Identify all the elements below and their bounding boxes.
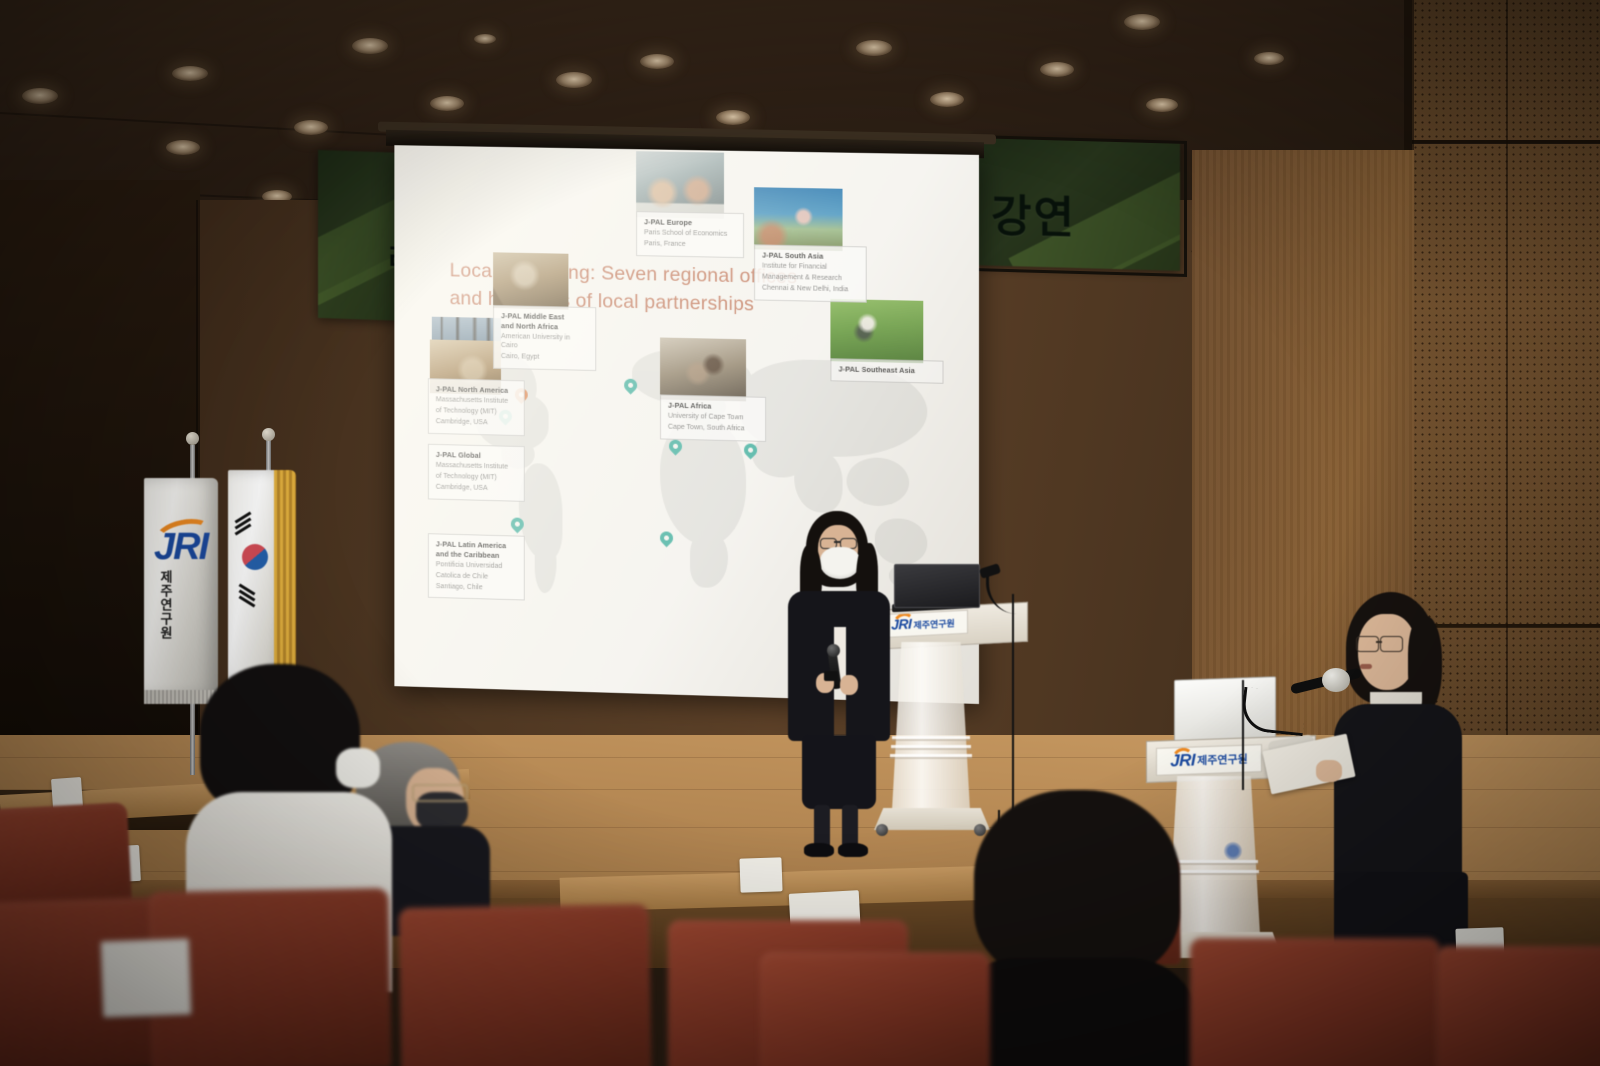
- flag-jri-korean: 제주연구원: [156, 570, 175, 640]
- map-pin-mena: [669, 440, 682, 457]
- office-institution-2: of Technology (MIT): [436, 472, 517, 484]
- office-city: Cairo, Egypt: [501, 352, 588, 363]
- ceiling-downlight: [856, 40, 892, 56]
- lectern-column: [892, 642, 970, 810]
- office-card-mena: J-PAL Middle East and North Africa Ameri…: [493, 305, 596, 371]
- microphone-head: [827, 644, 840, 657]
- side-lectern-emblem: [1224, 842, 1242, 860]
- ceiling-downlight: [640, 54, 674, 69]
- ceiling-downlight: [22, 88, 58, 104]
- office-card-southeast-asia: J-PAL Southeast Asia: [830, 358, 943, 383]
- moderator-glasses-bridge: [1376, 641, 1382, 643]
- auditorium-photo: 리 강연 Local grounding: Seven regional off…: [0, 0, 1600, 1066]
- flag-finial-left: [186, 432, 199, 445]
- office-photo-mena: [493, 252, 568, 309]
- office-card-latin-america: J-PAL Latin America and the Caribbean Po…: [428, 533, 525, 601]
- office-name: J-PAL Africa: [668, 401, 758, 413]
- jri-logo-korean: 제주연구원: [1197, 751, 1248, 769]
- ceiling-downlight: [1124, 14, 1160, 30]
- office-photo-south-asia: [754, 187, 842, 251]
- jri-logo-korean: 제주연구원: [913, 616, 954, 631]
- office-photo-africa: [660, 337, 746, 401]
- ceiling-downlight: [716, 110, 750, 125]
- office-city: Paris, France: [644, 239, 736, 250]
- ceiling-downlight: [930, 92, 964, 107]
- map-pin-europe-shadow: [628, 377, 641, 394]
- presenter-glasses-bridge: [834, 541, 841, 543]
- seat-name-card: [101, 938, 192, 1017]
- moderator-microphone-head: [1322, 668, 1350, 692]
- audience-seat-front: [760, 952, 990, 1066]
- moderator-glasses-right: [1380, 636, 1403, 652]
- presenter-face-mask: [820, 547, 860, 579]
- ceiling-downlight: [556, 72, 592, 88]
- office-institution: Massachusetts Institute: [436, 461, 517, 472]
- moderator-hand: [1316, 760, 1342, 782]
- office-name: J-PAL Southeast Asia: [838, 364, 935, 376]
- office-card-africa: J-PAL Africa University of Cape Town Cap…: [660, 394, 766, 441]
- office-name: J-PAL Europe: [644, 217, 736, 228]
- audience-seat-front: [1190, 938, 1440, 1066]
- jri-logo: JRI: [1170, 750, 1195, 771]
- presenter-shoe-right: [838, 843, 868, 857]
- office-institution: University of Cape Town: [668, 412, 758, 424]
- office-city: Cambridge, USA: [436, 417, 517, 428]
- ceiling-downlight: [166, 140, 200, 155]
- lectern-laptop-lid: [894, 564, 980, 608]
- office-institution-2: Management & Research: [762, 273, 859, 284]
- flag-gold-fringe: [274, 470, 296, 682]
- office-card-europe: J-PAL Europe Paris School of Economics P…: [636, 211, 744, 258]
- office-card-global: J-PAL Global Massachusetts Institute of …: [428, 444, 525, 502]
- presenter-shoe-left: [804, 843, 834, 857]
- office-institution: Paris School of Economics: [644, 228, 736, 239]
- ceiling-downlight: [294, 120, 328, 135]
- office-card-north-america: J-PAL North America Massachusetts Instit…: [428, 378, 525, 436]
- map-pin-africa: [660, 531, 673, 548]
- office-card-south-asia: J-PAL South Asia Institute for Financial…: [754, 244, 867, 302]
- lectern-ring: [892, 736, 970, 739]
- ceiling-downlight: [430, 96, 464, 111]
- ceiling-downlight: [352, 38, 388, 54]
- audience-seat-front: [399, 904, 652, 1066]
- presenter: [772, 505, 902, 855]
- map-pin-latin-america: [511, 517, 524, 534]
- ceiling-downlight: [1146, 98, 1178, 112]
- office-institution: Pontificia Universidad: [436, 560, 517, 572]
- flag-finial-right: [262, 428, 275, 441]
- office-photo-europe: [636, 151, 724, 219]
- moderator-mouth: [1360, 664, 1372, 669]
- audience-face-mask: [336, 748, 380, 788]
- office-institution-2: Catolica de Chile: [436, 571, 517, 583]
- presenter-hand-right: [840, 675, 858, 695]
- office-city: Cambridge, USA: [436, 483, 517, 495]
- office-name-2: and North Africa: [501, 321, 588, 332]
- office-name: J-PAL Global: [436, 450, 517, 462]
- presenter-skirt: [802, 735, 876, 809]
- audience-hair-dark: [974, 790, 1180, 980]
- audience-glasses: [412, 784, 468, 802]
- banner-right-frame: [973, 135, 1187, 277]
- office-city: Chennai & New Delhi, India: [762, 284, 859, 295]
- presenter-collar: [812, 591, 868, 627]
- ceiling-downlight: [1254, 52, 1284, 65]
- flag-jri-text: JRI: [154, 526, 207, 569]
- office-city: Santiago, Chile: [436, 582, 517, 594]
- ceiling-downlight: [172, 66, 208, 81]
- taeguk-circle: [242, 544, 268, 570]
- office-institution: Institute for Financial: [762, 262, 859, 273]
- ceiling-downlight: [474, 34, 496, 44]
- moderator: [1308, 592, 1478, 972]
- ceiling-downlight: [1040, 62, 1074, 77]
- presentation-clicker: [824, 671, 838, 681]
- audience-seat-front: [1436, 946, 1600, 1066]
- lectern-ring: [891, 745, 971, 748]
- flag-south-korea: [228, 470, 290, 682]
- seat-name-card: [739, 857, 782, 892]
- map-pin-south-asia: [744, 443, 757, 460]
- lectern-ring: [890, 754, 972, 757]
- office-city: Cape Town, South Africa: [668, 423, 758, 435]
- office-photo-southeast-asia: [830, 299, 923, 363]
- office-institution: American University in Cairo: [501, 332, 588, 353]
- office-name: J-PAL South Asia: [762, 250, 859, 262]
- moderator-glasses-left: [1356, 636, 1379, 652]
- office-institution-2: of Technology (MIT): [436, 406, 517, 417]
